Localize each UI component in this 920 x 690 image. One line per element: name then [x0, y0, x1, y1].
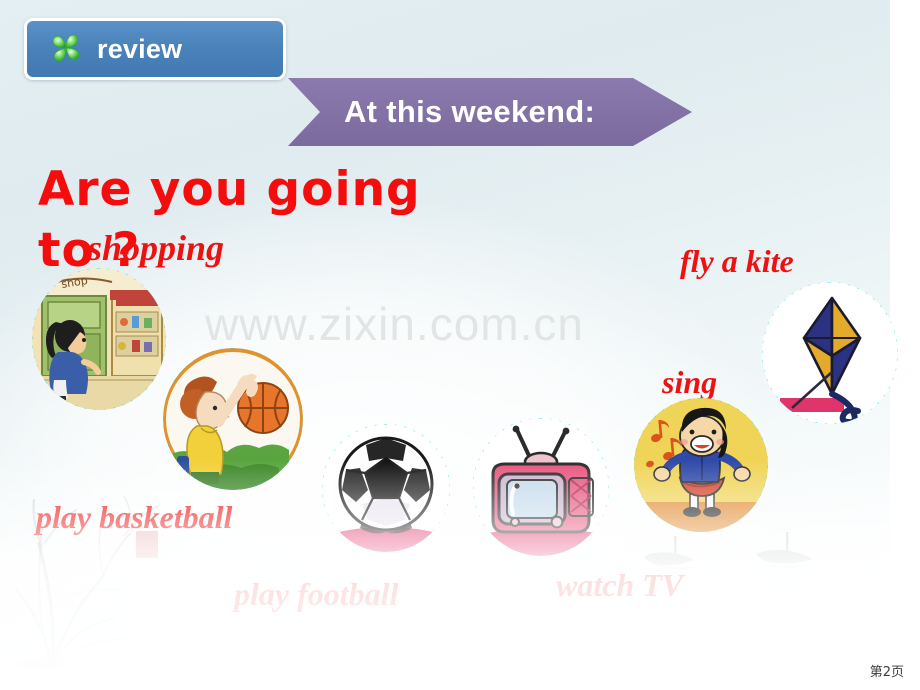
slide-canvas: review At this weekend: Are you going to…: [0, 0, 920, 690]
soccer-ball-illustration: [322, 424, 450, 552]
caption-football: play football: [234, 578, 398, 610]
television-illustration: [473, 418, 609, 556]
review-button[interactable]: review: [24, 18, 286, 80]
shopping-illustration: shop: [32, 268, 166, 410]
clover-icon: [49, 32, 83, 66]
picture-football[interactable]: [322, 424, 450, 552]
watermark: www.zixin.com.cn: [205, 297, 584, 351]
basketball-illustration: [163, 348, 303, 490]
picture-kite[interactable]: [762, 282, 898, 424]
kite-illustration: [762, 282, 898, 424]
picture-basketball[interactable]: [163, 348, 303, 490]
picture-sing[interactable]: [634, 398, 768, 532]
singing-girl-illustration: [634, 398, 768, 532]
weekend-banner: At this weekend:: [288, 78, 692, 146]
review-button-label: review: [97, 34, 182, 65]
picture-shopping[interactable]: shop: [32, 268, 166, 410]
page-number: 第2页: [870, 661, 904, 680]
caption-shopping: shopping: [88, 230, 224, 266]
caption-watch-tv: watch TV: [556, 569, 683, 601]
question-line-1: Are you going: [38, 166, 421, 213]
caption-basketball: play basketball: [36, 501, 232, 533]
bottom-fade: [0, 460, 920, 690]
caption-sing: sing: [662, 366, 717, 398]
ink-seal-stamp: [136, 531, 158, 558]
banner-title: At this weekend:: [344, 78, 595, 146]
caption-fly-a-kite: fly a kite: [680, 245, 794, 277]
picture-tv[interactable]: [473, 418, 609, 556]
